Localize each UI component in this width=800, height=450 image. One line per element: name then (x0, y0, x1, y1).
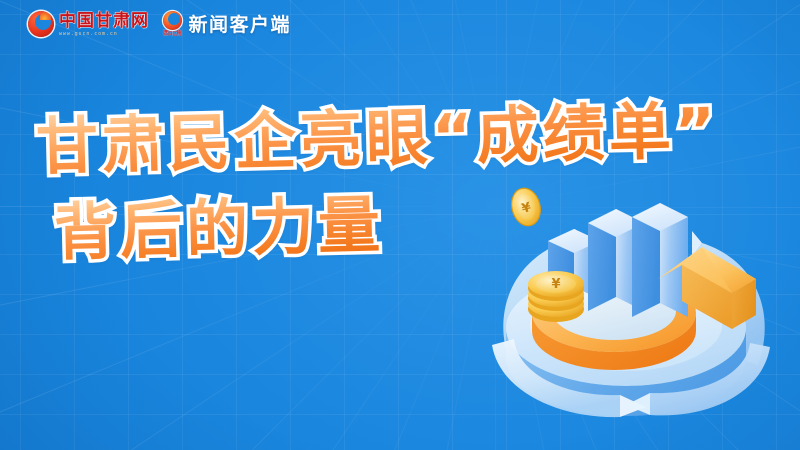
gansu-net-url: www.gscn.com.cn (59, 32, 149, 37)
page-title: 甘肃民企亮眼“成绩单” 甘肃民企亮眼“成绩单” 背后的力量 背后的力量 (36, 96, 720, 267)
logo-news-client[interactable]: 西北角 新闻客户端 (163, 10, 291, 37)
title-line-2-text: 背后的力量 (53, 188, 385, 269)
news-client-label: 新闻客户端 (189, 10, 292, 37)
gansu-net-flame-logo-icon (28, 11, 54, 37)
grid-vline (20, 0, 21, 450)
grid-hline (0, 54, 800, 55)
title-line-2: 背后的力量 背后的力量 (53, 173, 720, 275)
gold-coin-stack: ¥ (528, 271, 584, 322)
gansu-net-wordmark: 中国甘肃网 www.gscn.com.cn (59, 13, 149, 37)
logo-gansu-net[interactable]: 中国甘肃网 www.gscn.com.cn (28, 11, 149, 37)
banner-canvas: 中国甘肃网 www.gscn.com.cn 西北角 新闻客户端 甘肃民企亮眼“成… (0, 0, 800, 450)
header-logos: 中国甘肃网 www.gscn.com.cn 西北角 新闻客户端 (28, 10, 291, 37)
svg-text:¥: ¥ (551, 277, 560, 292)
title-line-1: 甘肃民企亮眼“成绩单” 甘肃民企亮眼“成绩单” (35, 88, 720, 190)
northwest-corner-swirl-logo-icon: 西北角 (163, 11, 183, 37)
northwest-mark-text: 西北角 (163, 31, 183, 37)
gansu-net-name: 中国甘肃网 (59, 13, 149, 30)
swirl-icon (163, 11, 182, 30)
